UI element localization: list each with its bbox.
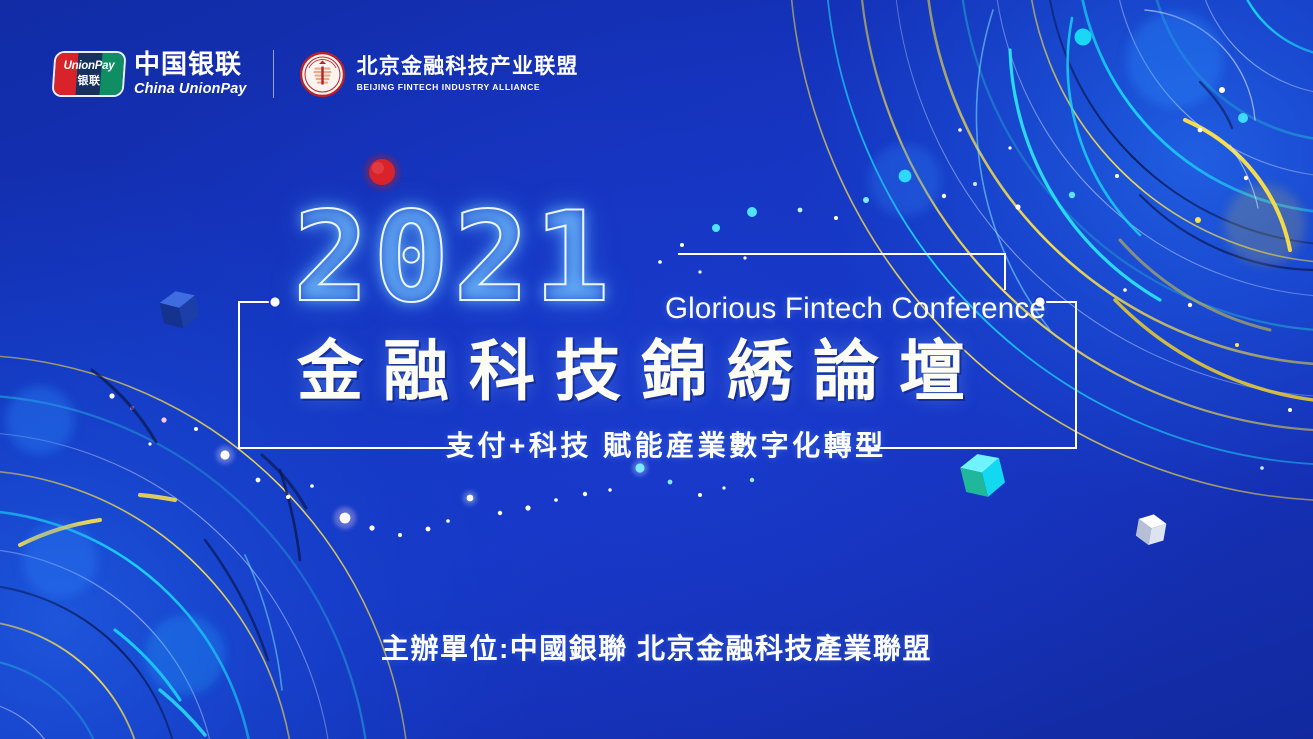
poster-canvas: UnionPay 银联 中国银联 China UnionPay xyxy=(0,0,1313,739)
brand-bar: UnionPay 银联 中国银联 China UnionPay xyxy=(55,50,579,98)
unionpay-mark-icon: UnionPay 银联 xyxy=(54,53,125,95)
unionpay-mark-en: UnionPay xyxy=(64,61,115,73)
unionpay-name-en: China UnionPay xyxy=(134,82,247,97)
title-frame xyxy=(0,0,1313,739)
alliance-logo: 北京金融科技产业联盟 BEIJING FINTECH INDUSTRY ALLI… xyxy=(300,52,579,97)
alliance-name-en: BEIJING FINTECH INDUSTRY ALLIANCE xyxy=(357,83,579,92)
alliance-seal-icon xyxy=(300,52,345,97)
unionpay-name-cn: 中国银联 xyxy=(134,51,247,77)
alliance-name-cn: 北京金融科技产业联盟 xyxy=(357,56,579,77)
unionpay-logo: UnionPay 银联 中国银联 China UnionPay xyxy=(55,51,247,97)
brand-divider xyxy=(273,50,274,98)
unionpay-mark-cn: 银联 xyxy=(78,76,101,87)
